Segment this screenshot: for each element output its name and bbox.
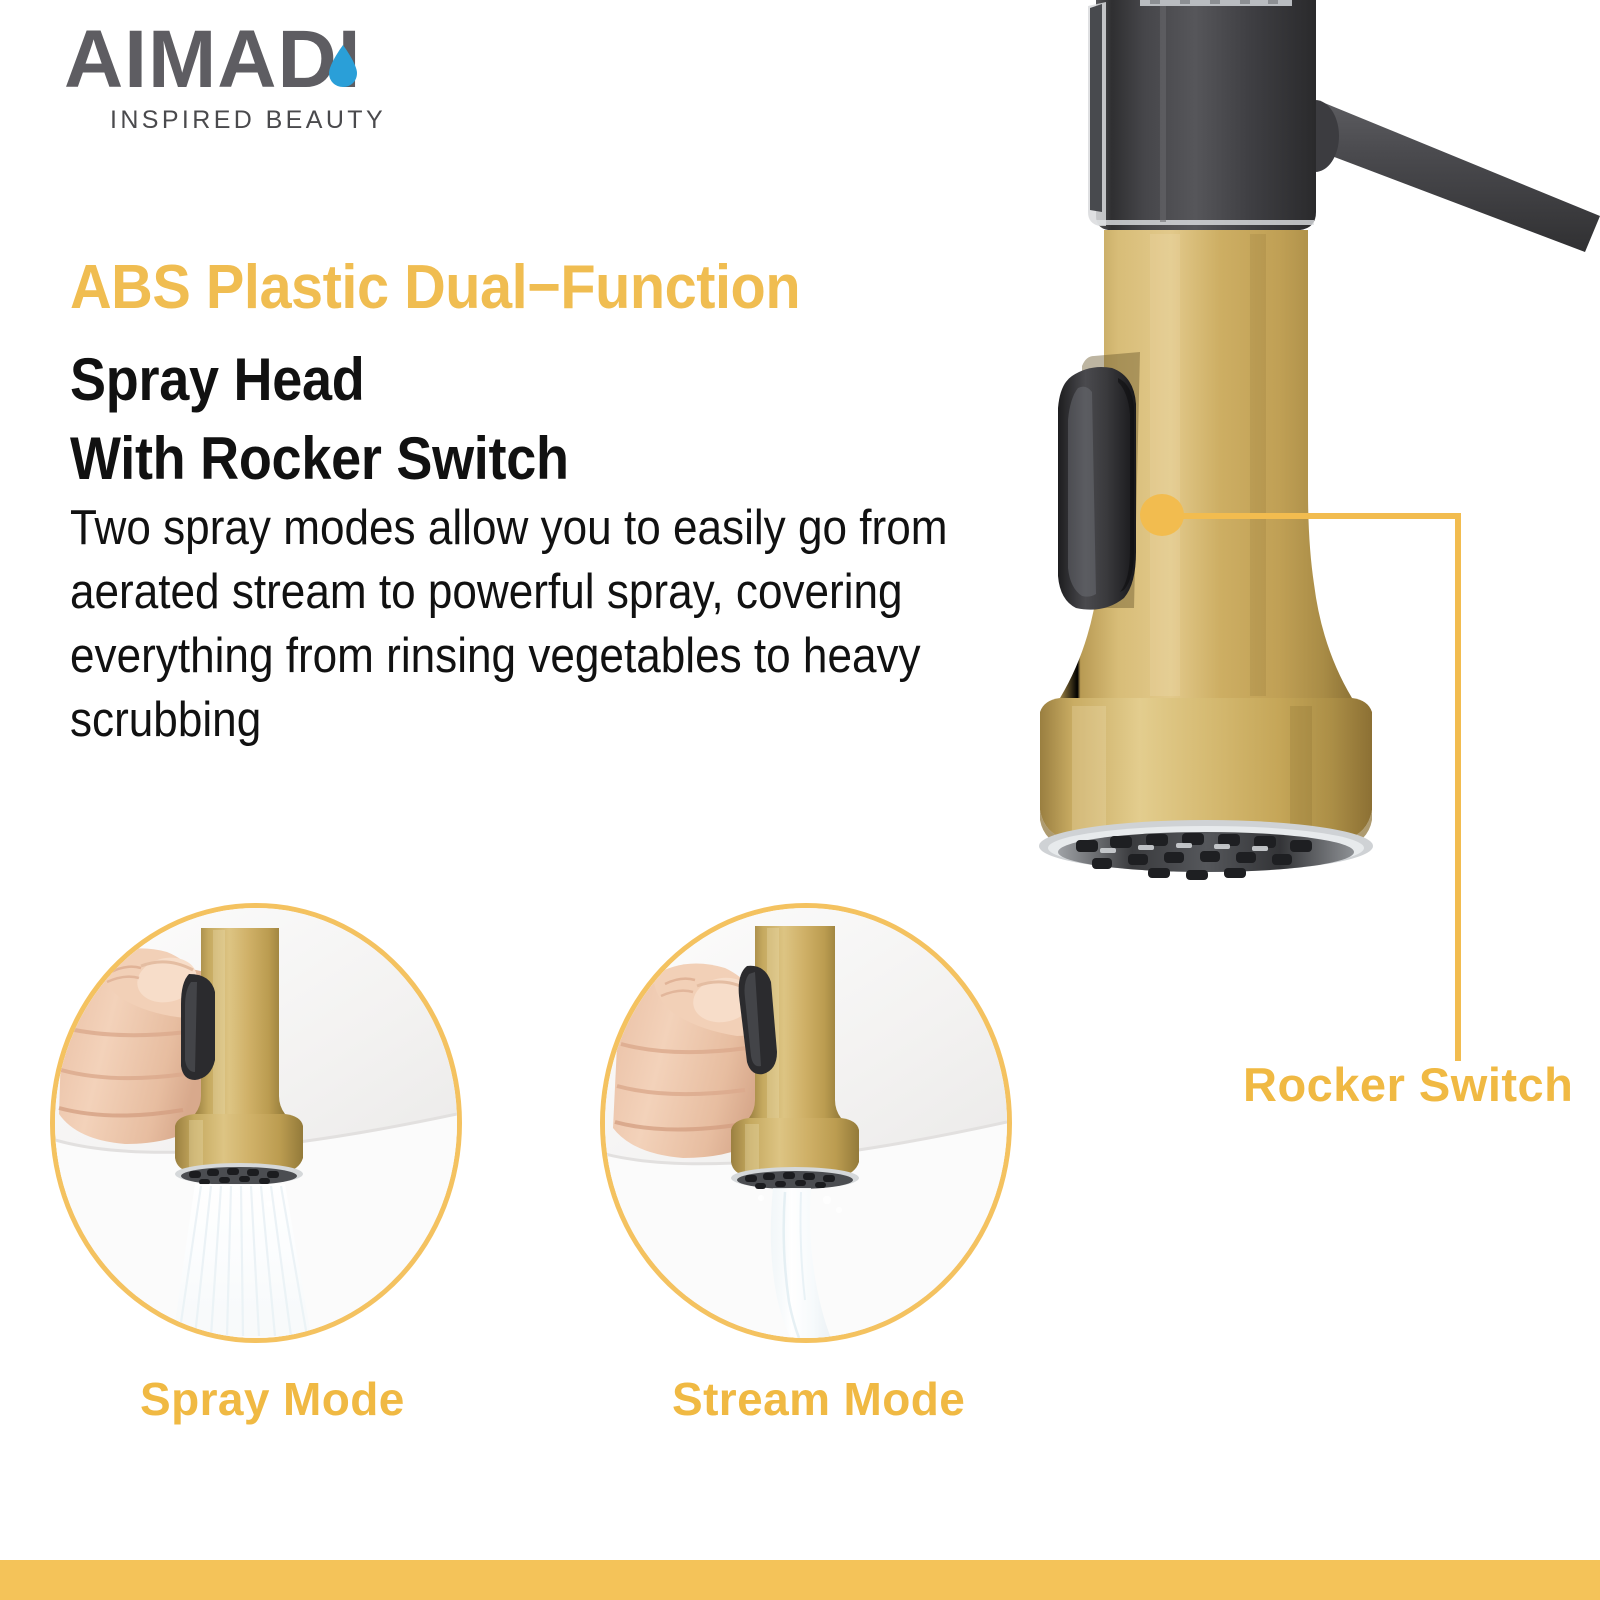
- mode-label-stream: Stream Mode: [672, 1372, 965, 1426]
- footer-accent-bar: [0, 1560, 1600, 1600]
- stream-mode-photo-circle: [600, 903, 1012, 1343]
- callout-leader-horizontal: [1178, 513, 1461, 519]
- callout-label-rocker-switch: Rocker Switch: [1243, 1057, 1573, 1112]
- brand-name-text: AIMADI: [64, 14, 362, 105]
- callout-dot-marker: [1140, 494, 1184, 536]
- hero-product-image: [1000, 0, 1600, 904]
- headline-black-line1: Spray Head: [70, 346, 364, 413]
- headline-gold: ABS Plastic Dual−Function: [70, 252, 800, 323]
- brand-wordmark: AIMADI: [64, 18, 444, 102]
- stream-mode-illustration: [605, 908, 1007, 1338]
- brand-logo: AIMADI INSPIRED BEAUTY: [64, 18, 444, 135]
- infographic-page: AIMADI INSPIRED BEAUTY ABS Plastic Dual−…: [0, 0, 1600, 1600]
- mode-label-spray: Spray Mode: [140, 1372, 405, 1426]
- spray-mode-illustration: [55, 908, 457, 1338]
- headline-black: Spray HeadWith Rocker Switch: [70, 340, 569, 498]
- brand-tagline: INSPIRED BEAUTY: [64, 106, 432, 135]
- water-drop-icon: [326, 44, 360, 88]
- body-paragraph: Two spray modes allow you to easily go f…: [70, 496, 979, 752]
- spray-head-illustration: [1000, 0, 1600, 904]
- headline-black-line2: With Rocker Switch: [70, 425, 569, 492]
- callout-leader-vertical: [1455, 513, 1461, 1061]
- spray-mode-photo-circle: [50, 903, 462, 1343]
